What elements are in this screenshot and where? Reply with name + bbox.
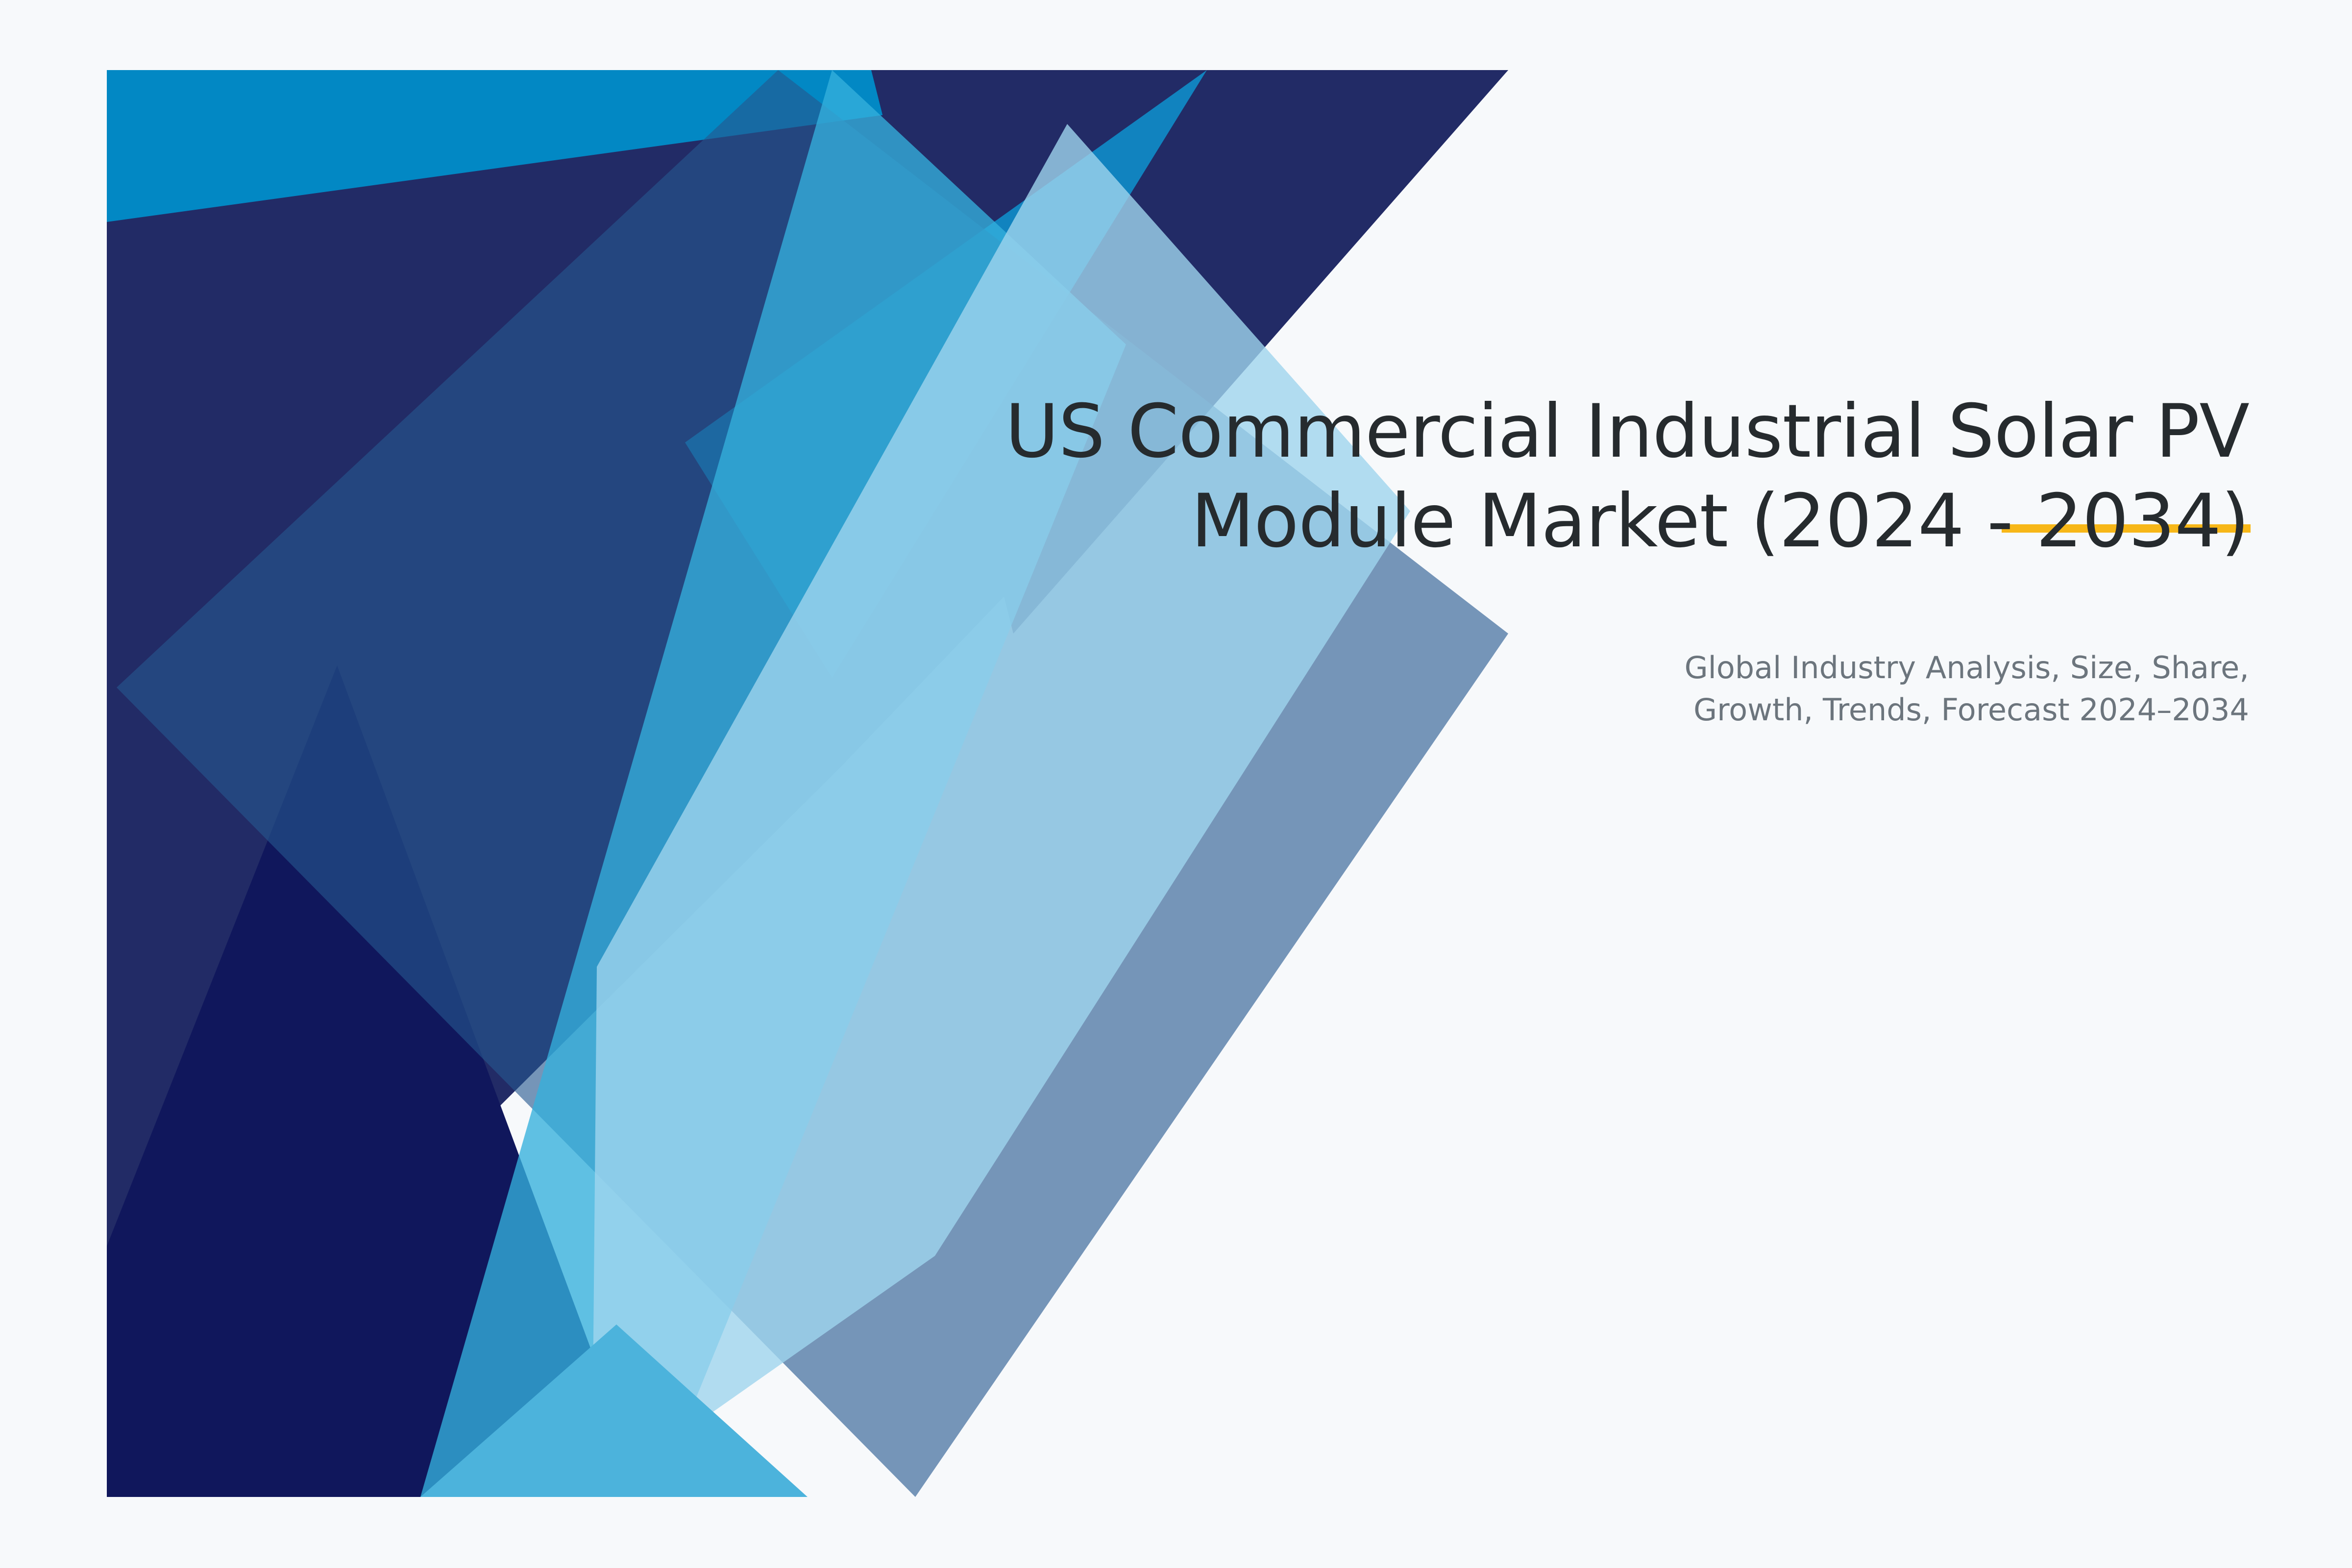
cover-artwork <box>107 70 1508 1497</box>
page-subtitle-line-1: Global Industry Analysis, Size, Share, <box>1685 650 2249 686</box>
geometric-artwork-svg <box>107 70 1508 1497</box>
page-subtitle-line-2: Growth, Trends, Forecast 2024–2034 <box>1693 692 2249 728</box>
page-title: US Commercial Industrial Solar PVModule … <box>784 387 2249 566</box>
title-block: US Commercial Industrial Solar PVModule … <box>784 387 2249 566</box>
cover-slide: US Commercial Industrial Solar PVModule … <box>0 0 2352 1568</box>
subtitle-block: Global Industry Analysis, Size, Share,Gr… <box>1274 647 2249 731</box>
page-subtitle: Global Industry Analysis, Size, Share,Gr… <box>1274 647 2249 731</box>
page-title-line-1: US Commercial Industrial Solar PV <box>1005 389 2249 474</box>
page-title-line-2: Module Market (2024 - 2034) <box>1191 479 2249 564</box>
